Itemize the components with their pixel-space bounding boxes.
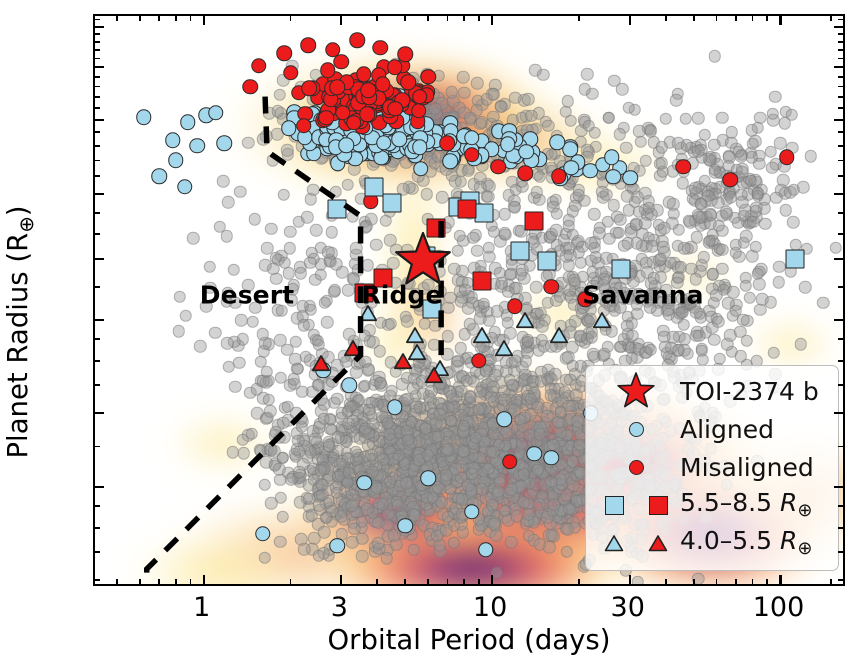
tick-mark [693,16,695,21]
background-point [265,222,278,235]
background-point [174,290,187,303]
misaligned-point[interactable] [387,60,403,76]
background-point [626,329,639,342]
background-point [770,191,783,204]
misaligned-point[interactable] [349,32,365,48]
toi-2374b-star-marker[interactable] [393,230,453,290]
misaligned-point[interactable] [276,46,292,62]
aligned-square-point[interactable] [475,203,494,222]
background-point [542,119,555,132]
background-point [740,230,753,243]
background-point [295,533,308,546]
background-point [753,278,766,291]
background-point [440,469,453,482]
aligned-point[interactable] [151,169,167,185]
background-point [258,551,271,564]
background-point [563,399,576,412]
aligned-point[interactable] [518,144,534,160]
aligned-square-point[interactable] [511,242,530,261]
tick-mark [838,212,843,214]
tick-mark [834,319,843,321]
background-point [655,141,668,154]
misaligned-point[interactable] [356,66,372,82]
background-point [429,102,442,115]
background-point [644,125,657,138]
background-point [751,187,764,200]
aligned-point[interactable] [208,105,224,121]
background-point [502,317,515,330]
tick-mark [158,579,160,584]
misaligned-point[interactable] [318,110,334,126]
tick-mark [95,551,100,553]
legend-box: TOI-2374 b Aligned Misaligned [585,365,839,571]
background-point [457,71,470,84]
tick-mark [491,16,493,25]
tick-mark [838,19,843,21]
misaligned-square-point[interactable] [525,212,544,231]
background-point [520,355,533,368]
background-point [608,74,621,87]
aligned-square-point[interactable] [538,252,557,271]
background-point [716,112,729,125]
background-point [295,413,308,426]
background-point [765,296,778,309]
aligned-point[interactable] [356,475,372,491]
background-point [522,93,535,106]
tick-mark [752,16,754,21]
aligned-square-point[interactable] [612,260,631,279]
tick-mark [629,575,631,584]
misaligned-point[interactable] [517,165,533,181]
plot-clip: Desert Ridge Savanna TOI-2374 b [95,16,843,584]
background-point [273,89,286,102]
tick-mark [95,319,104,321]
background-point [372,537,385,550]
background-point [453,230,466,243]
aligned-point[interactable] [496,412,512,428]
background-point [505,483,518,496]
background-point [407,544,420,557]
tick-mark [95,66,104,68]
aligned-point[interactable] [177,179,193,195]
background-point [350,242,363,255]
tick-mark [693,579,695,584]
background-point [277,452,290,465]
aligned-point[interactable] [464,130,480,146]
misaligned-triangle-point[interactable] [311,354,330,371]
background-point [342,284,355,297]
aligned-point[interactable] [413,161,429,177]
aligned-point[interactable] [281,120,297,136]
aligned-square-point[interactable] [383,194,402,213]
aligned-point[interactable] [622,170,638,186]
misaligned-point[interactable] [251,58,267,74]
aligned-point[interactable] [136,110,152,126]
aligned-point[interactable] [420,470,436,486]
misaligned-point[interactable] [723,172,739,188]
background-point [315,393,328,406]
aligned-point[interactable] [605,169,621,185]
background-point [428,339,441,352]
misaligned-point[interactable] [412,89,428,105]
background-point [287,373,300,386]
background-point [582,119,595,132]
background-point [578,83,591,96]
legend-square-aligned-icon [605,496,624,515]
background-point [322,246,335,259]
background-point [329,185,342,198]
misaligned-point[interactable] [464,147,480,163]
legend-item-toi2374b[interactable]: TOI-2374 b [592,372,828,410]
background-point [294,267,307,280]
background-point [696,344,709,357]
misaligned-point[interactable] [440,135,456,151]
tick-mark [427,16,429,21]
background-point [787,216,800,229]
background-point [564,373,577,386]
misaligned-point[interactable] [242,79,258,95]
aligned-point[interactable] [387,399,403,415]
background-point [260,365,273,378]
aligned-point[interactable] [392,132,408,148]
background-point [708,139,721,152]
aligned-triangle-point[interactable] [549,327,568,344]
misaligned-point[interactable] [388,101,404,117]
tick-mark [463,579,465,584]
misaligned-point[interactable] [375,76,391,92]
aligned-point[interactable] [329,538,345,554]
background-point [502,285,515,298]
misaligned-point[interactable] [301,81,317,97]
tick-mark [830,16,832,21]
background-point [530,186,543,199]
misaligned-point[interactable] [346,115,362,131]
aligned-point[interactable] [443,154,459,170]
x-tick-label: 10 [473,592,507,623]
aligned-point[interactable] [189,138,205,154]
background-point [534,428,547,441]
misaligned-point[interactable] [543,279,559,295]
background-point [799,281,812,294]
background-point [470,432,483,445]
background-point [726,126,739,139]
background-point [359,423,372,436]
background-point [460,375,473,388]
tick-mark [838,446,843,448]
legend-label-toi2374b: TOI-2374 b [680,379,819,404]
background-point [530,281,543,294]
background-point [779,204,792,217]
aligned-point[interactable] [550,134,566,150]
background-point [734,326,747,339]
background-point [457,445,470,458]
tick-mark [290,16,292,21]
legend-item-radius-5p5-8p5[interactable]: 5.5–8.5 R⊕ [592,486,828,524]
tick-mark [95,286,100,288]
background-point [508,195,521,208]
background-point [248,213,261,226]
background-point [749,205,762,218]
tick-mark [175,579,177,584]
aligned-point[interactable] [543,450,559,466]
misaligned-point[interactable] [283,65,299,81]
background-point [377,498,390,511]
tick-mark [752,579,754,584]
aligned-point[interactable] [180,114,196,130]
aligned-point[interactable] [526,446,542,462]
legend-item-misaligned[interactable]: Misaligned [592,448,828,486]
background-point [458,328,471,341]
tick-mark [838,49,843,51]
background-point [489,369,502,382]
background-point [459,283,472,296]
legend-item-radius-4p0-5p5[interactable]: 4.0–5.5 R⊕ [592,524,828,562]
background-point [764,146,777,159]
misaligned-point[interactable] [329,79,345,95]
aligned-point[interactable] [464,504,480,520]
background-point [720,206,733,219]
background-point [785,109,798,122]
background-point [173,325,186,338]
background-point [321,316,334,329]
misaligned-point[interactable] [551,169,567,185]
tick-mark [203,16,205,25]
tick-mark [838,145,843,147]
aligned-point[interactable] [376,135,392,151]
background-point [536,320,549,333]
background-point [359,356,372,369]
misaligned-point[interactable] [334,54,350,70]
background-point [545,476,558,489]
background-point [525,109,538,122]
tick-mark [838,41,843,43]
background-point [703,235,716,248]
misaligned-triangle-point[interactable] [425,366,444,383]
misaligned-point[interactable] [398,46,414,62]
background-point [524,260,537,273]
misaligned-point[interactable] [296,118,312,134]
aligned-point[interactable] [412,140,428,156]
background-point [767,346,780,359]
tick-mark [716,16,718,21]
background-point [379,214,392,227]
misaligned-point[interactable] [300,37,316,53]
tick-mark [376,579,378,584]
tick-mark [95,160,100,162]
background-point [370,238,383,251]
aligned-triangle-point[interactable] [495,339,514,356]
tick-mark [447,16,449,21]
aligned-triangle-point[interactable] [472,327,491,344]
earth-symbol-sub: ⊕ [15,216,38,233]
tick-mark [834,119,843,121]
aligned-point[interactable] [398,518,414,534]
aligned-triangle-point[interactable] [405,327,424,344]
background-point [445,415,458,428]
tick-mark [116,16,118,21]
aligned-triangle-point[interactable] [516,312,535,329]
background-point [274,491,287,504]
background-point [258,479,271,492]
x-tick-label: 3 [331,592,348,623]
background-point [319,511,332,524]
y-axis-title-close: ) [2,205,34,216]
tick-mark [838,338,843,340]
tick-mark [95,175,100,177]
tick-mark [735,16,737,21]
background-point [436,496,449,509]
background-point [466,468,479,481]
background-point [593,227,606,240]
misaligned-triangle-point[interactable] [393,352,412,369]
background-point [598,348,611,361]
background-point [187,232,200,245]
background-point [323,439,336,452]
background-point [545,529,558,542]
misaligned-point[interactable] [373,40,389,56]
misaligned-point[interactable] [490,159,506,175]
tick-mark [158,16,160,21]
misaligned-point[interactable] [779,150,795,166]
background-point [709,50,722,63]
misaligned-point[interactable] [401,74,417,90]
background-point [498,227,511,240]
background-point [563,503,576,516]
background-point [618,240,631,253]
background-point [356,550,369,563]
background-point [571,415,584,428]
background-point [464,111,477,124]
tick-mark [95,19,100,21]
misaligned-point[interactable] [360,106,376,122]
background-point [309,433,322,446]
aligned-point[interactable] [478,542,494,558]
tick-mark [95,212,100,214]
background-point [467,232,480,245]
misaligned-point[interactable] [420,69,436,85]
background-point [522,508,535,521]
tick-mark [376,16,378,21]
background-point [788,183,801,196]
background-point [419,422,432,435]
misaligned-triangle-point[interactable] [344,339,363,356]
background-point [498,394,511,407]
tick-mark [95,193,104,195]
aligned-point[interactable] [338,137,354,153]
legend-item-aligned[interactable]: Aligned [592,410,828,448]
tick-mark [190,579,192,584]
aligned-square-point[interactable] [785,249,804,268]
background-point [560,489,573,502]
misaligned-point[interactable] [502,454,518,470]
background-point [613,226,626,239]
misaligned-point[interactable] [471,353,487,369]
background-point [710,289,723,302]
tick-mark [838,33,843,35]
background-point [736,196,749,209]
background-point [805,150,818,163]
background-point [572,189,585,202]
tick-mark [478,579,480,584]
tick-mark [95,49,100,51]
tick-mark [95,233,100,235]
tick-mark [478,16,480,21]
tick-mark [834,258,843,260]
background-point [499,504,512,517]
tick-mark [95,119,104,121]
background-point [595,267,608,280]
region-label-savanna: Savanna [582,281,703,310]
misaligned-point[interactable] [676,159,692,175]
legend-star-marker [592,374,680,408]
aligned-point[interactable] [255,526,271,542]
tick-mark [175,16,177,21]
tick-mark [735,579,737,584]
background-point [692,112,705,125]
background-point [477,297,490,310]
background-point [678,242,691,255]
background-point [568,274,581,287]
background-point [429,320,442,333]
background-point [621,190,634,203]
background-point [759,217,772,230]
background-point [452,245,465,258]
aligned-square-point[interactable] [365,177,384,196]
misaligned-point[interactable] [361,83,377,99]
x-tick-label: 1 [193,592,210,623]
background-point [301,211,314,224]
background-point [677,177,690,190]
misaligned-square-point[interactable] [458,199,477,218]
background-point [400,477,413,490]
background-point [516,438,529,451]
background-point [505,268,518,281]
background-point [454,175,467,188]
background-point [548,498,561,511]
background-point [209,326,222,339]
background-point [773,261,786,274]
misaligned-square-point[interactable] [472,271,491,290]
aligned-point[interactable] [342,377,358,393]
background-point [745,151,758,164]
tick-mark [491,575,493,584]
tick-mark [838,360,843,362]
background-point [222,360,235,373]
background-point [750,241,763,254]
background-point [559,386,572,399]
aligned-point[interactable] [604,150,620,166]
background-point [730,304,743,317]
aligned-point[interactable] [217,135,233,151]
background-point [564,114,577,127]
aligned-point[interactable] [500,136,516,152]
tick-mark [404,16,406,21]
figure-canvas: Planet Radius (R⊕) Orbital Period (days) [0,0,858,664]
tick-mark [95,131,100,133]
tick-mark [447,579,449,584]
aligned-point[interactable] [168,153,184,169]
aligned-square-point[interactable] [328,199,347,218]
background-point [442,330,455,343]
aligned-triangle-point[interactable] [592,312,611,329]
aligned-point[interactable] [165,133,181,149]
background-point [312,550,325,563]
background-point [567,229,580,242]
background-point [217,175,230,188]
background-point [264,405,277,418]
tick-mark [95,86,100,88]
background-point [475,483,488,496]
